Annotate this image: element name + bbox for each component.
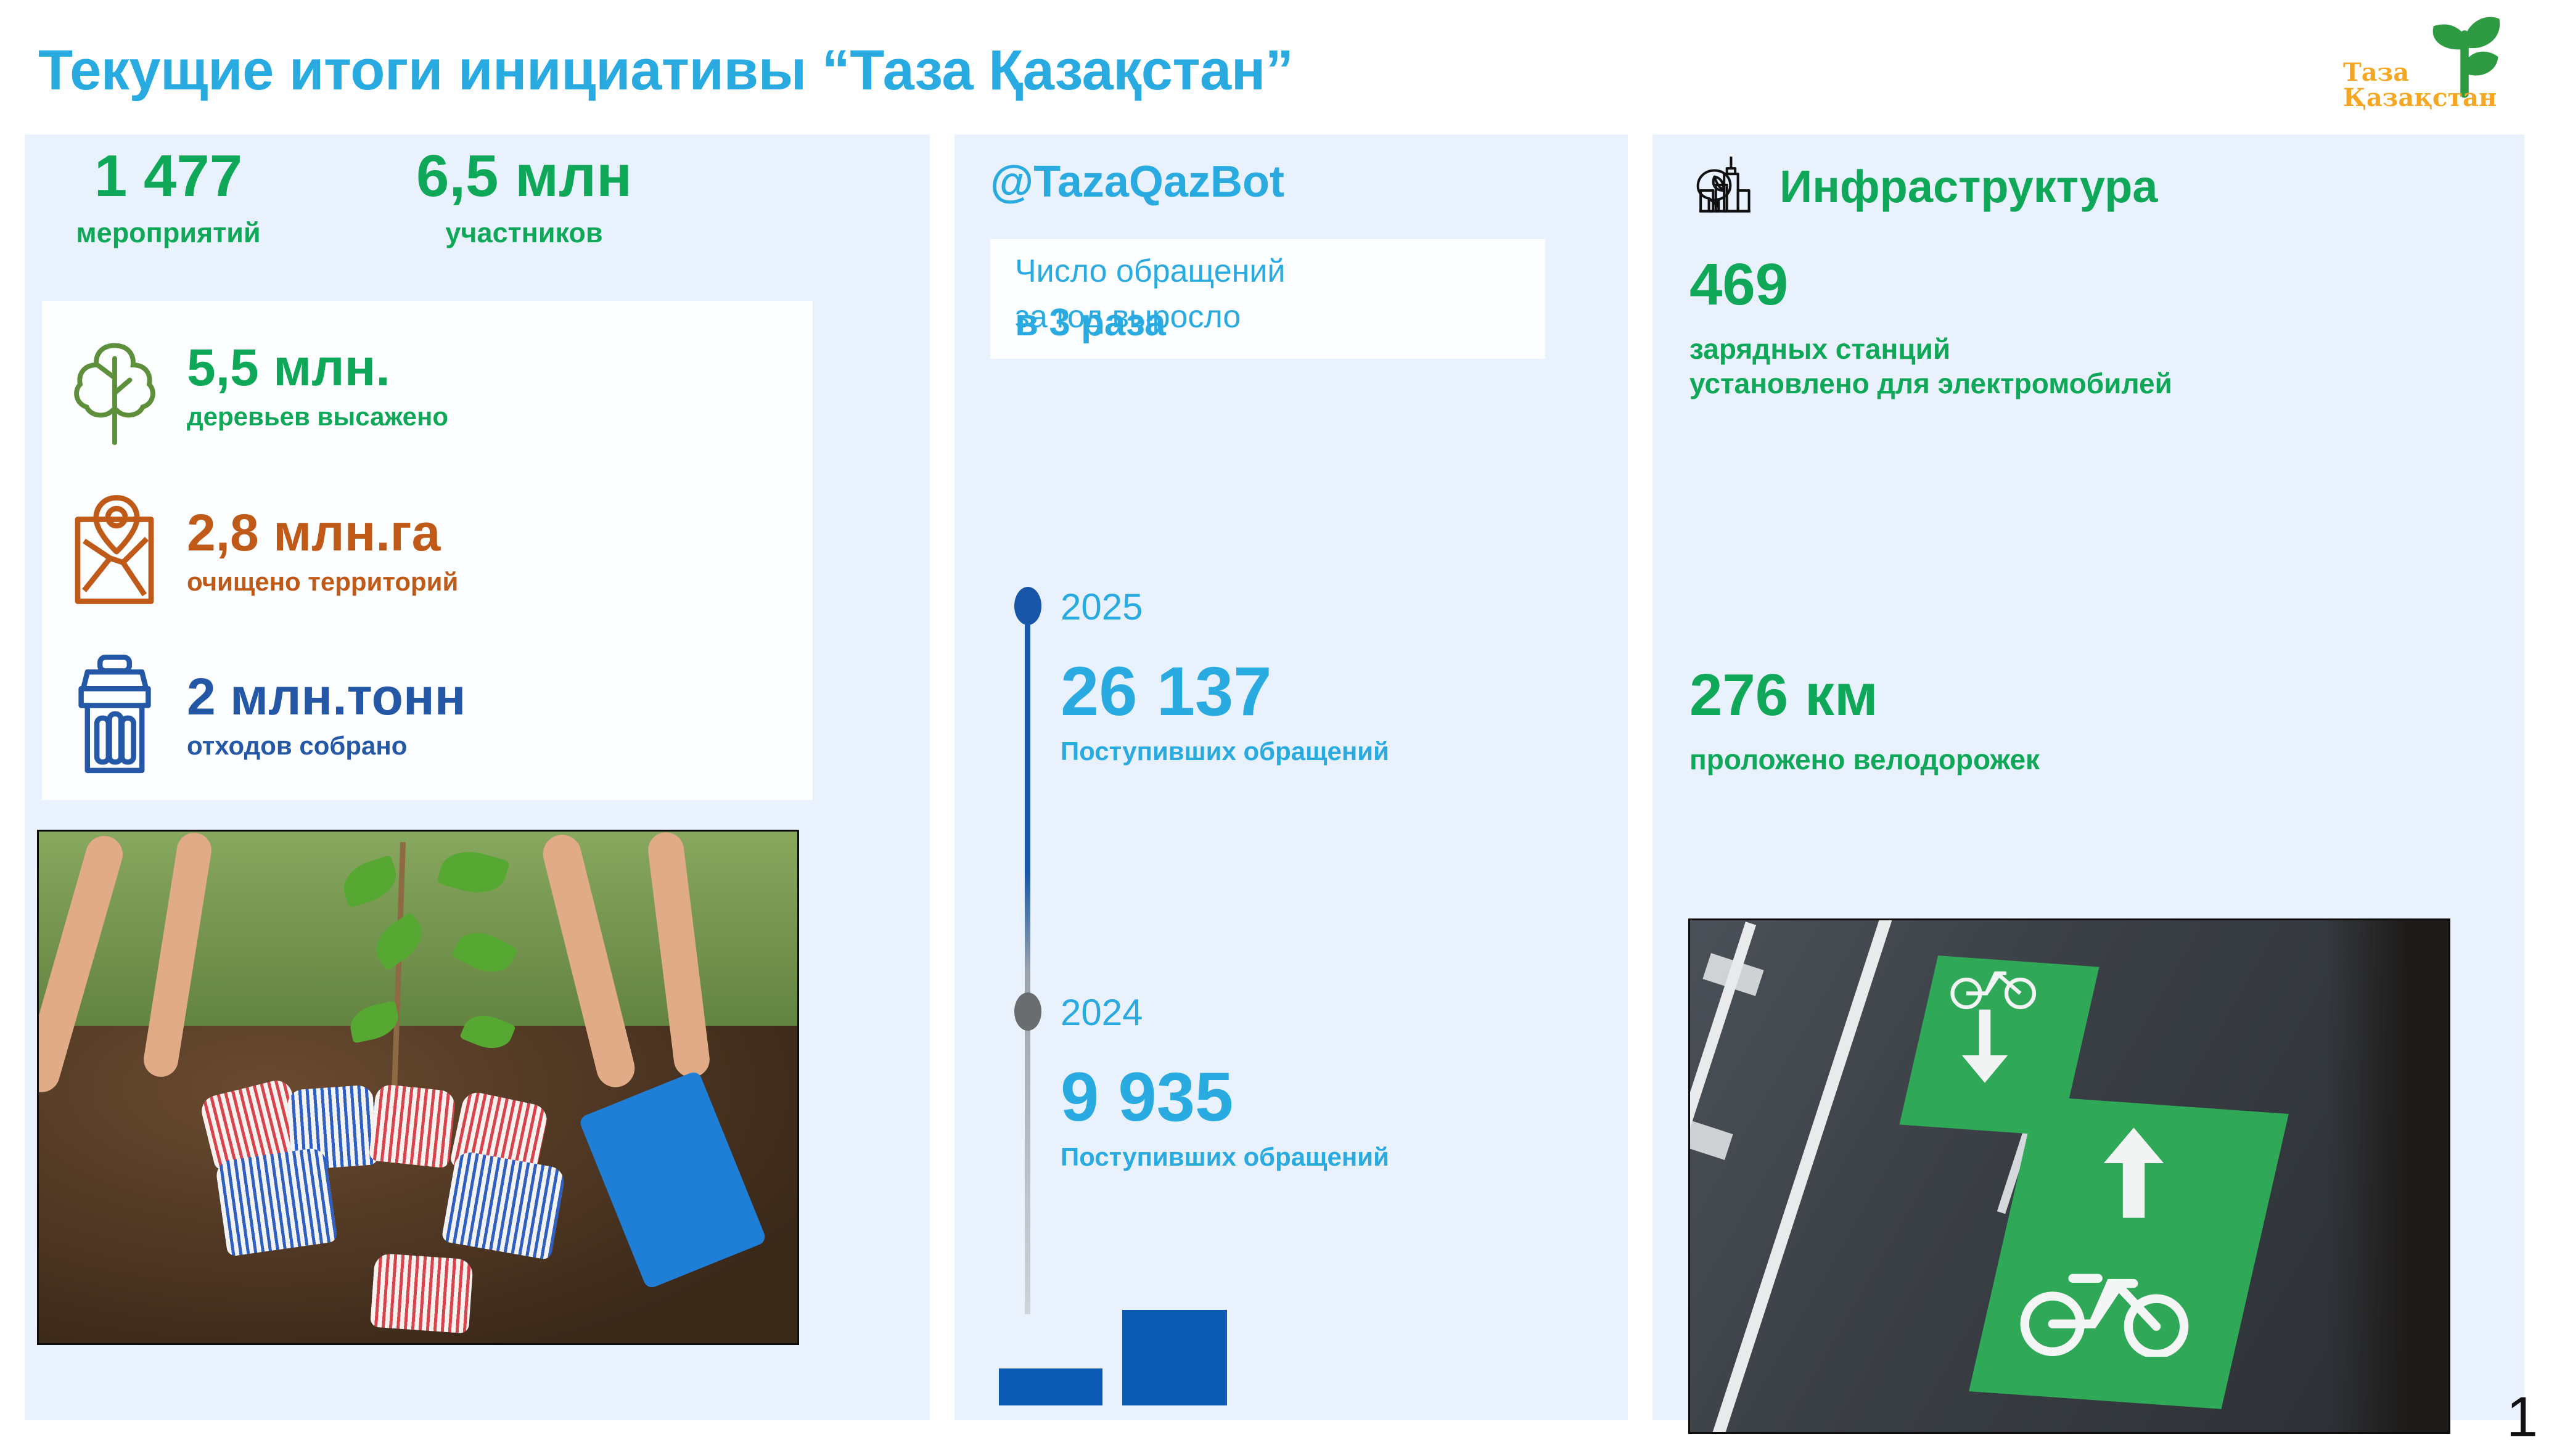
timeline-dot-2025: [1014, 587, 1041, 625]
metric-trees-caption: деревьев высажено: [187, 402, 448, 431]
stat-events-value: 1 477: [36, 147, 301, 206]
stat-events-label: мероприятий: [36, 217, 301, 249]
metric-area-caption: очищено территорий: [187, 567, 458, 597]
infrastructure-header: Инфраструктура: [1688, 150, 2157, 223]
timeline-caption-2025: Поступивших обращений: [1061, 737, 1389, 766]
timeline-axis: [1025, 599, 1030, 1314]
logo-text: Таза Қазақстан: [2343, 60, 2497, 111]
slide-number: 1: [2506, 1385, 2538, 1450]
city-eco-icon: [1688, 150, 1757, 223]
timeline-entry-2024: 2024 9 935 Поступивших обращений: [1061, 991, 1389, 1172]
metric-row-waste: 2 млн.тонн отходов собрано: [48, 639, 807, 793]
metric-area-value: 2,8 млн.га: [187, 507, 458, 558]
timeline-value-2025: 26 137: [1061, 655, 1389, 728]
bar-2024: [999, 1368, 1102, 1405]
bot-card-highlight: в 3 раза: [1015, 301, 1166, 345]
timeline-year-2025: 2025: [1061, 586, 1389, 628]
metrics-card: 5,5 млн. деревьев высажено: [42, 301, 813, 800]
timeline-value-2024: 9 935: [1061, 1061, 1389, 1134]
bicycle-symbol-bottom-icon: [2016, 1258, 2195, 1357]
left-panel: 1 477 мероприятий 6,5 млн участников: [25, 134, 930, 1420]
timeline-year-2024: 2024: [1061, 991, 1389, 1034]
metric-row-trees: 5,5 млн. деревьев высажено: [48, 309, 807, 464]
logo-line-2: Қазақстан: [2343, 86, 2497, 111]
timeline-dot-2024: [1014, 992, 1041, 1031]
taza-qazaqstan-logo: Таза Қазақстан: [2339, 5, 2524, 122]
stat-events: 1 477 мероприятий: [36, 147, 301, 249]
bot-card-line-1: Число обращений: [1015, 253, 1285, 290]
trash-bin-icon: [48, 653, 181, 779]
stat-participants-label: участников: [333, 217, 715, 249]
stat-charging-stations: 469 зарядных станций установлено для эле…: [1689, 255, 2503, 401]
bike-lanes-value: 276 км: [1689, 666, 2503, 725]
stat-participants-value: 6,5 млн: [333, 147, 715, 206]
logo-line-1: Таза: [2343, 58, 2409, 87]
right-panel: Инфраструктура 469 зарядных станций уста…: [1652, 134, 2524, 1420]
timeline-caption-2024: Поступивших обращений: [1061, 1142, 1389, 1172]
tree-planting-photo: [37, 830, 799, 1345]
infrastructure-title: Инфраструктура: [1779, 160, 2157, 213]
map-pin-icon: [48, 490, 181, 613]
metric-row-area: 2,8 млн.га очищено территорий: [48, 475, 807, 629]
metric-waste-caption: отходов собрано: [187, 731, 466, 761]
charging-stations-caption-2: установлено для электромобилей: [1689, 367, 2172, 399]
page-title: Текущие итоги инициативы “Таза Қазақстан…: [38, 38, 1293, 103]
bike-lane-up-arrow: [2092, 1125, 2175, 1221]
metric-trees-value: 5,5 млн.: [187, 342, 448, 393]
bike-lane-photo: [1688, 918, 2450, 1434]
tree-icon: [48, 322, 181, 451]
bar-2025: [1122, 1310, 1227, 1405]
metric-waste-value: 2 млн.тонн: [187, 671, 466, 722]
bike-lane-down-arrow: [1948, 1007, 2022, 1087]
timeline-entry-2025: 2025 26 137 Поступивших обращений: [1061, 586, 1389, 766]
bot-handle[interactable]: @TazaQazBot: [990, 157, 1284, 207]
stat-participants: 6,5 млн участников: [333, 147, 715, 249]
stat-bike-lanes: 276 км проложено велодорожек: [1689, 666, 2503, 777]
appeals-bar-chart: [999, 1288, 1258, 1405]
bike-lanes-caption: проложено велодорожек: [1689, 742, 2503, 777]
charging-stations-value: 469: [1689, 255, 2503, 314]
charging-stations-caption-1: зарядных станций: [1689, 333, 1950, 365]
bicycle-symbol-top-icon: [1948, 961, 2040, 1010]
